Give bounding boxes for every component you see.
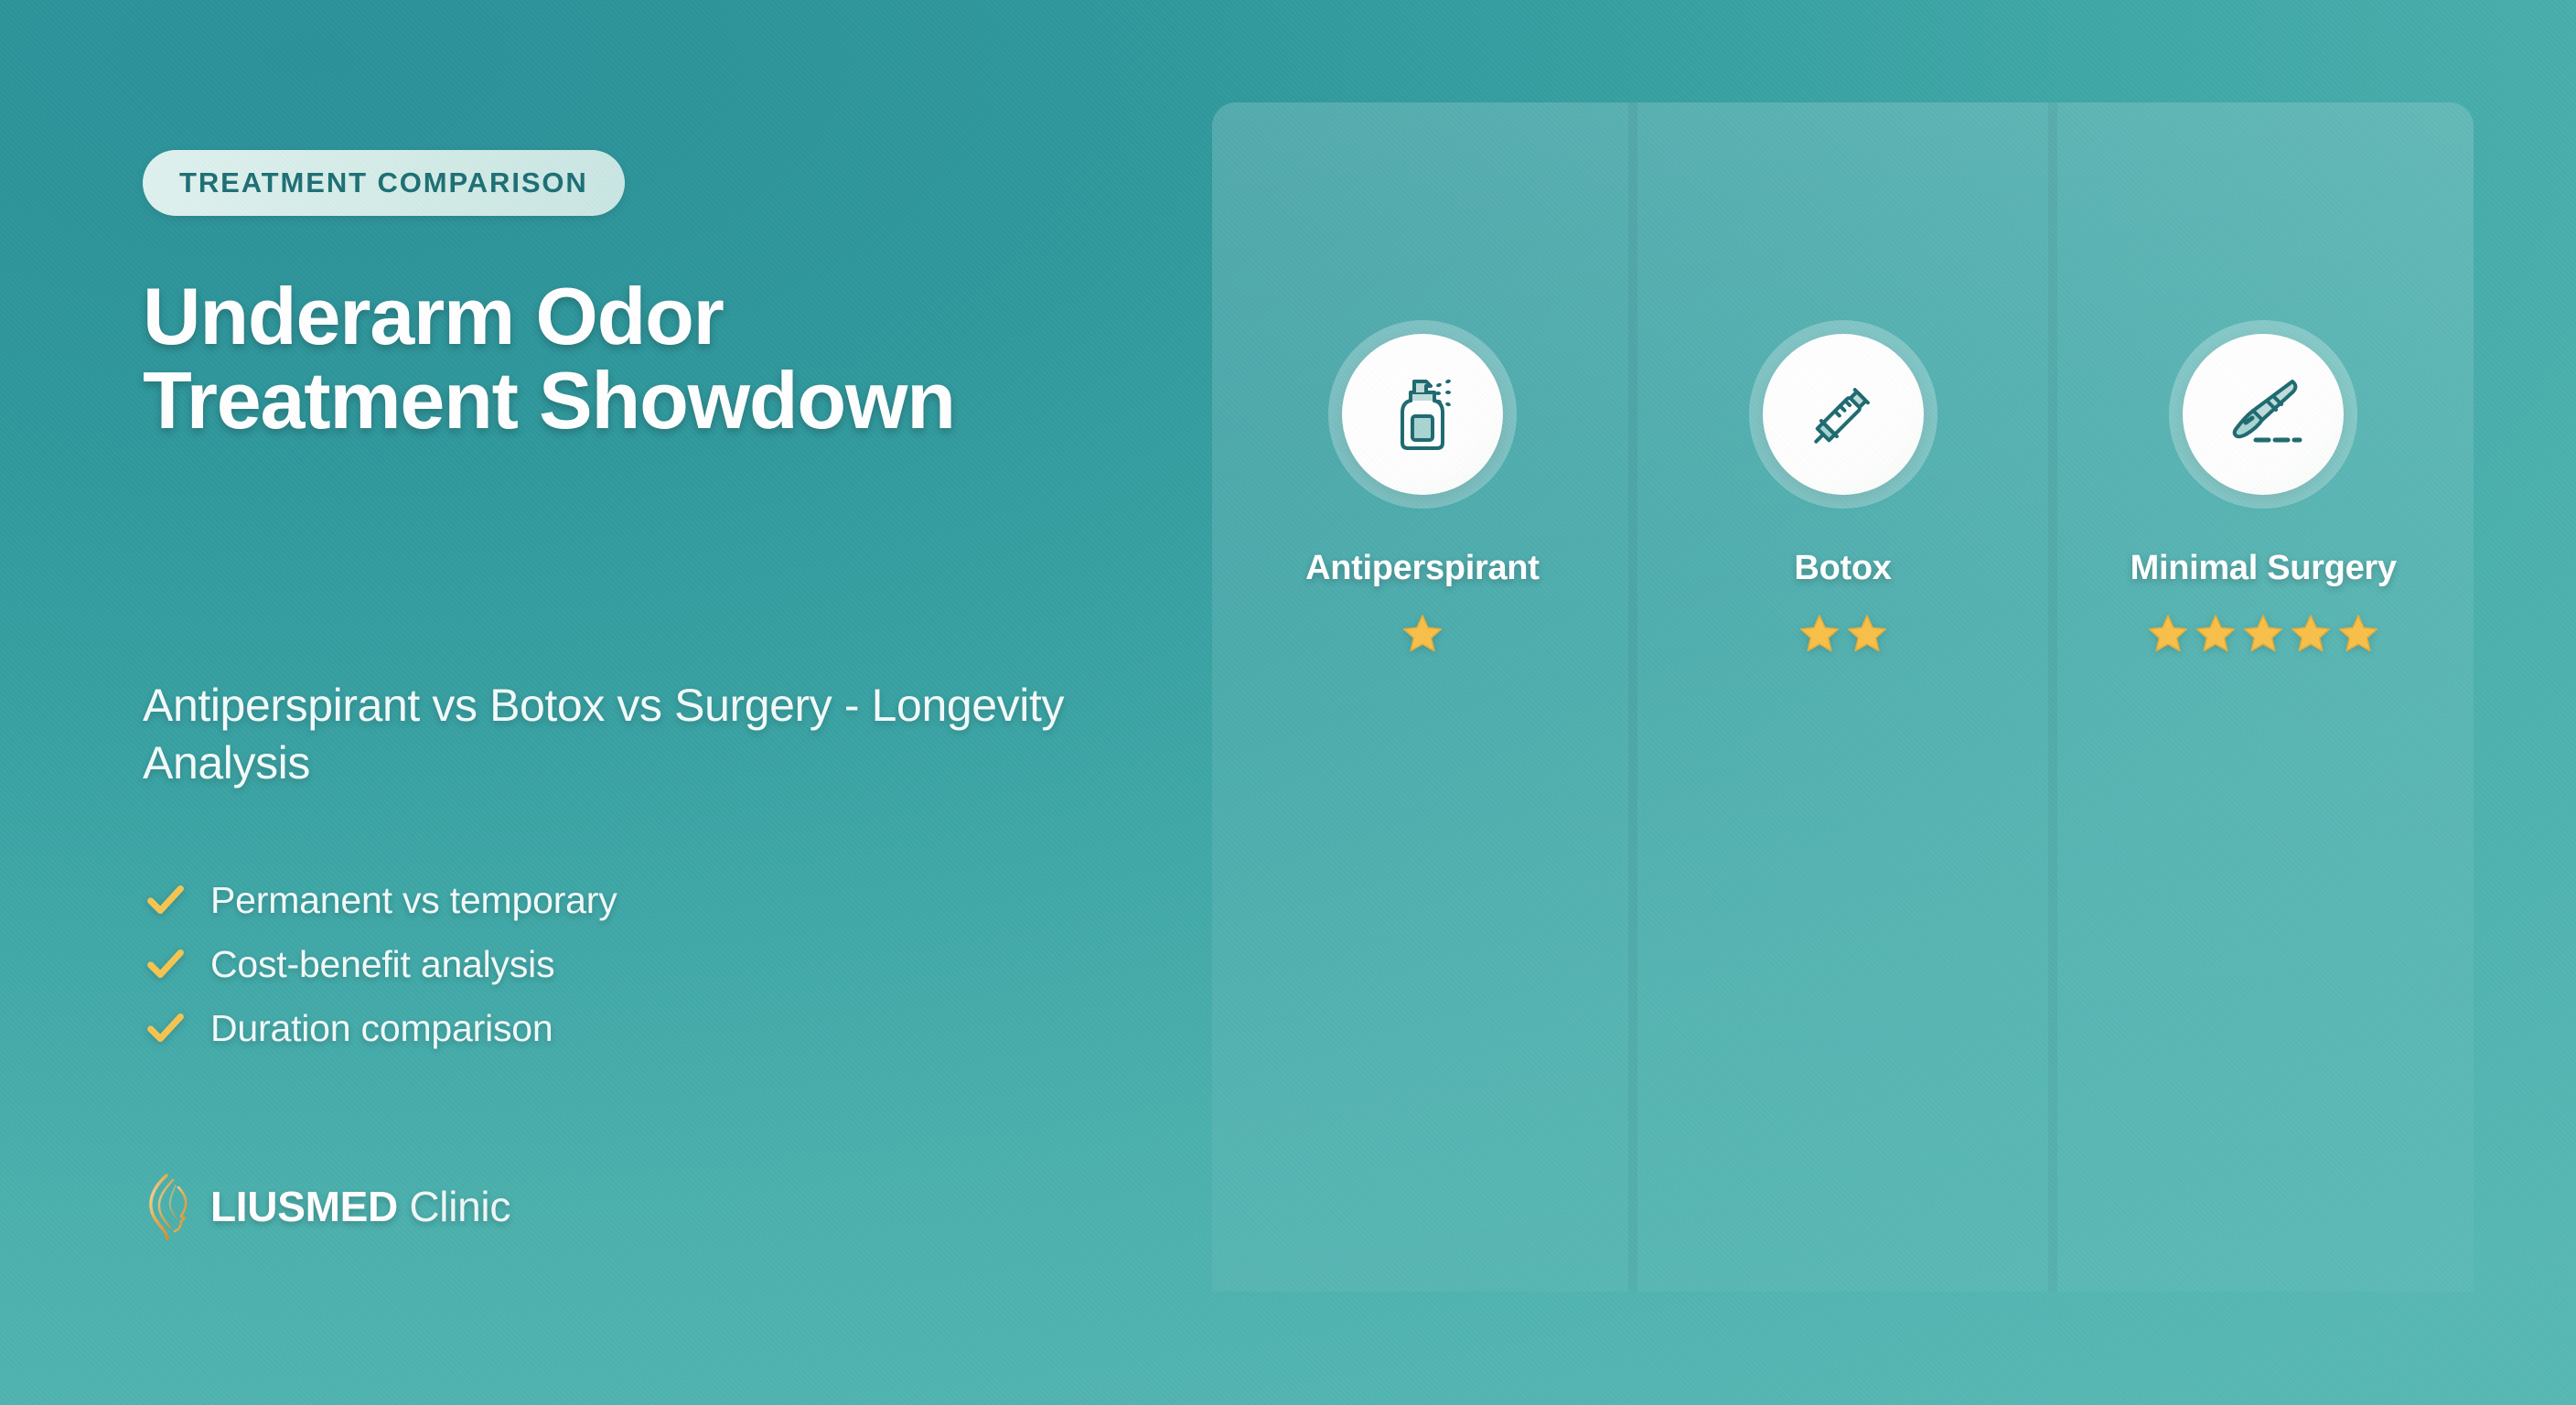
spray-bottle-icon <box>1371 363 1474 466</box>
treatment-comparison-panel: Antiperspirant <box>1212 102 2474 1292</box>
feature-bullet-list: Permanent vs temporary Cost-benefit anal… <box>145 876 617 1052</box>
brand-lockup: LIUSMED Clinic <box>145 1173 510 1240</box>
icon-disc <box>2183 334 2344 495</box>
star-icon <box>2146 611 2190 655</box>
brand-name-primary: LIUSMED <box>210 1183 398 1230</box>
icon-halo <box>1328 320 1517 509</box>
list-item-label: Permanent vs temporary <box>210 879 617 922</box>
icon-halo <box>1749 320 1937 509</box>
check-icon <box>145 943 187 985</box>
brand-name-suffix: Clinic <box>409 1183 510 1230</box>
list-item: Duration comparison <box>145 1004 617 1052</box>
scalpel-icon <box>2212 363 2314 466</box>
icon-disc <box>1763 334 1924 495</box>
check-icon <box>145 879 187 921</box>
star-icon <box>2194 611 2238 655</box>
page-subtitle: Antiperspirant vs Botox vs Surgery - Lon… <box>143 677 1112 792</box>
list-item-label: Duration comparison <box>210 1007 553 1050</box>
star-icon <box>1401 611 1444 655</box>
icon-disc <box>1342 334 1503 495</box>
page-title: Underarm Odor Treatment Showdown <box>143 274 1112 442</box>
card-title: Botox <box>1633 549 2054 588</box>
brand-name: LIUSMED Clinic <box>210 1182 510 1231</box>
left-content-column: TREATMENT COMPARISON Underarm Odor Treat… <box>143 0 1167 1405</box>
comparison-card-antiperspirant[interactable]: Antiperspirant <box>1212 102 1633 1292</box>
syringe-icon <box>1792 363 1894 466</box>
list-item-label: Cost-benefit analysis <box>210 943 554 986</box>
comparison-card-botox[interactable]: Botox <box>1633 102 2054 1292</box>
star-icon <box>2289 611 2333 655</box>
list-item: Permanent vs temporary <box>145 876 617 924</box>
card-title: Antiperspirant <box>1212 549 1633 588</box>
rating-stars <box>1633 611 2054 655</box>
icon-halo <box>2169 320 2357 509</box>
check-icon <box>145 1007 187 1049</box>
category-badge: TREATMENT COMPARISON <box>143 150 625 216</box>
infographic-canvas: TREATMENT COMPARISON Underarm Odor Treat… <box>0 0 2576 1405</box>
card-title: Minimal Surgery <box>2053 549 2474 588</box>
list-item: Cost-benefit analysis <box>145 940 617 988</box>
star-icon <box>1845 611 1889 655</box>
liusmed-face-profile-logo-icon <box>145 1173 194 1240</box>
comparison-card-minimal-surgery[interactable]: Minimal Surgery <box>2053 102 2474 1292</box>
star-icon <box>2336 611 2380 655</box>
star-icon <box>2241 611 2285 655</box>
rating-stars <box>2053 611 2474 655</box>
category-badge-label: TREATMENT COMPARISON <box>179 166 588 199</box>
rating-stars <box>1212 611 1633 655</box>
star-icon <box>1798 611 1841 655</box>
